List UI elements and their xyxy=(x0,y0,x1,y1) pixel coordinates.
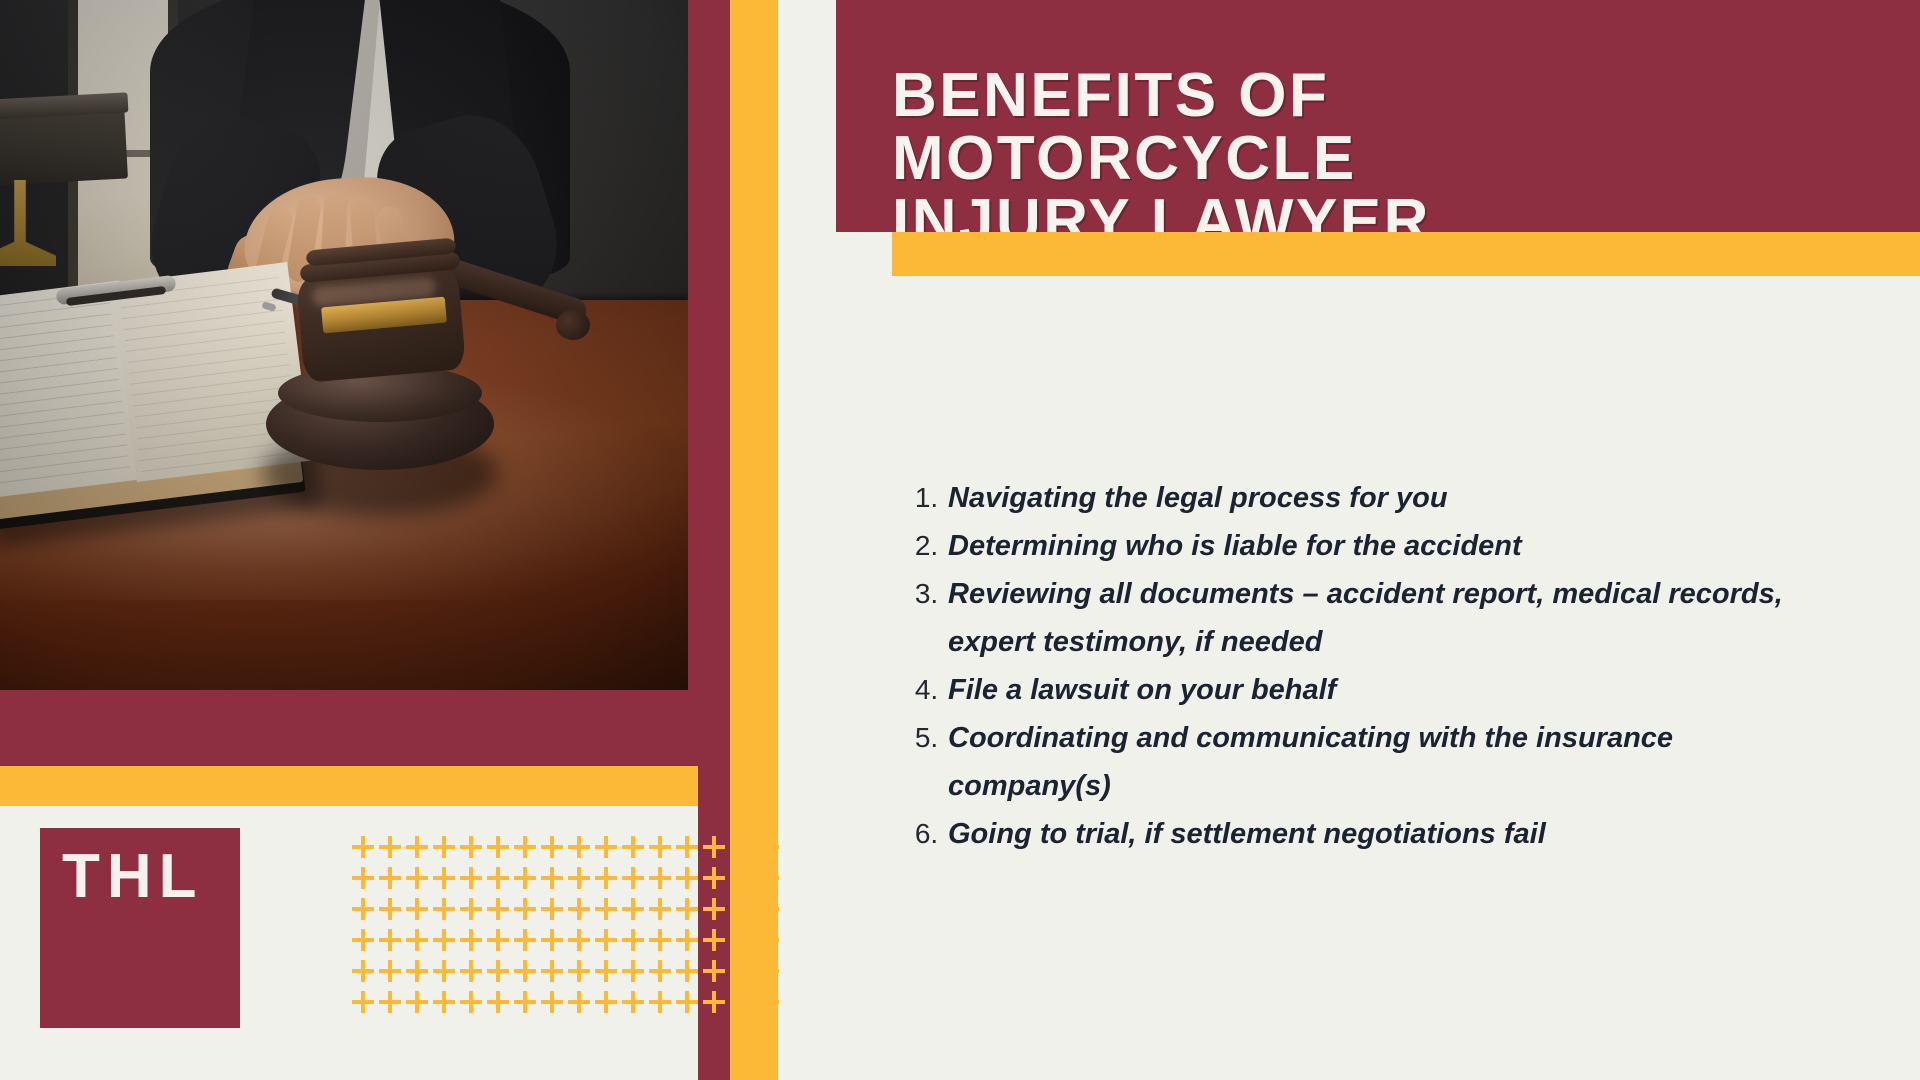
plus-icon xyxy=(649,898,671,920)
plus-icon xyxy=(487,960,509,982)
plus-icon xyxy=(676,867,698,889)
plus-icon xyxy=(379,867,401,889)
plus-icon xyxy=(406,929,428,951)
list-item: Navigating the legal process for you xyxy=(946,474,1810,522)
plus-icon xyxy=(541,960,563,982)
plus-icon xyxy=(676,836,698,858)
header-accent-bar xyxy=(892,232,1920,276)
plus-icon xyxy=(703,867,725,889)
list-item: Determining who is liable for the accide… xyxy=(946,522,1810,570)
plus-icon xyxy=(703,836,725,858)
list-item: File a lawsuit on your behalf xyxy=(946,666,1810,714)
plus-icon xyxy=(757,867,779,889)
plus-icon xyxy=(703,929,725,951)
plus-icon xyxy=(568,991,590,1013)
plus-icon xyxy=(460,929,482,951)
plus-icon xyxy=(487,898,509,920)
plus-icon xyxy=(433,929,455,951)
plus-icon xyxy=(379,898,401,920)
plus-icon xyxy=(757,960,779,982)
plus-icon xyxy=(703,991,725,1013)
plus-icon xyxy=(676,960,698,982)
plus-icon xyxy=(514,836,536,858)
plus-icon xyxy=(406,898,428,920)
page-title-line-2: MOTORCYCLE xyxy=(892,127,1902,190)
plus-icon xyxy=(703,898,725,920)
plus-icon xyxy=(406,836,428,858)
plus-icon xyxy=(352,898,374,920)
plus-icon xyxy=(568,836,590,858)
infographic-canvas: BENEFITS OF MOTORCYCLE INJURY LAWYER Nav… xyxy=(0,0,1920,1080)
list-item: Reviewing all documents – accident repor… xyxy=(946,570,1810,666)
plus-icon xyxy=(460,960,482,982)
plus-icon xyxy=(514,991,536,1013)
plus-icon xyxy=(757,929,779,951)
plus-icon xyxy=(622,991,644,1013)
plus-icon xyxy=(406,867,428,889)
plus-icon xyxy=(433,991,455,1013)
plus-icon xyxy=(703,960,725,982)
plus-icon xyxy=(379,836,401,858)
plus-icon xyxy=(649,991,671,1013)
plus-icon xyxy=(622,836,644,858)
thl-logo-text: THL xyxy=(62,846,232,908)
plus-icon xyxy=(595,898,617,920)
plus-icon xyxy=(730,991,752,1013)
benefits-list: Navigating the legal process for you Det… xyxy=(890,474,1810,858)
photo-color-grade-overlay xyxy=(0,0,688,690)
plus-icon xyxy=(541,991,563,1013)
plus-icon xyxy=(433,867,455,889)
plus-icon xyxy=(379,991,401,1013)
plus-icon xyxy=(568,960,590,982)
plus-icon xyxy=(352,867,374,889)
plus-icon xyxy=(460,898,482,920)
plus-icon xyxy=(541,898,563,920)
plus-icon xyxy=(676,929,698,951)
plus-icon xyxy=(676,991,698,1013)
plus-icon xyxy=(514,898,536,920)
plus-icon xyxy=(460,991,482,1013)
plus-icon xyxy=(595,960,617,982)
plus-icon xyxy=(487,991,509,1013)
benefits-list-container: Navigating the legal process for you Det… xyxy=(890,474,1810,858)
plus-icon xyxy=(757,898,779,920)
plus-icon xyxy=(541,929,563,951)
plus-icon xyxy=(649,960,671,982)
plus-icon xyxy=(730,867,752,889)
page-title: BENEFITS OF MOTORCYCLE INJURY LAWYER xyxy=(892,64,1902,254)
plus-icon xyxy=(622,898,644,920)
plus-icon xyxy=(460,867,482,889)
plus-icon xyxy=(622,867,644,889)
plus-icon xyxy=(406,991,428,1013)
plus-icon xyxy=(595,991,617,1013)
lawyer-desk-photo xyxy=(0,0,688,690)
list-item: Coordinating and communicating with the … xyxy=(946,714,1810,810)
plus-icon xyxy=(649,867,671,889)
plus-icon xyxy=(352,836,374,858)
plus-icon xyxy=(622,960,644,982)
plus-icon xyxy=(568,867,590,889)
plus-icon xyxy=(730,929,752,951)
plus-icon xyxy=(757,991,779,1013)
plus-icon xyxy=(487,836,509,858)
plus-icon xyxy=(730,960,752,982)
plus-icon xyxy=(730,898,752,920)
plus-icon xyxy=(433,898,455,920)
plus-icon xyxy=(514,960,536,982)
plus-icon xyxy=(379,929,401,951)
plus-icon xyxy=(676,898,698,920)
photo-content xyxy=(0,0,688,690)
list-item: Going to trial, if settlement negotiatio… xyxy=(946,810,1810,858)
plus-icon xyxy=(487,929,509,951)
plus-icon xyxy=(433,836,455,858)
plus-icon xyxy=(595,867,617,889)
plus-icon xyxy=(352,960,374,982)
plus-icon xyxy=(595,836,617,858)
plus-icon xyxy=(730,836,752,858)
plus-icon xyxy=(649,929,671,951)
plus-icon xyxy=(595,929,617,951)
plus-icon xyxy=(406,960,428,982)
plus-icon xyxy=(541,867,563,889)
plus-icon xyxy=(568,898,590,920)
plus-icon xyxy=(487,867,509,889)
plus-icon xyxy=(352,991,374,1013)
plus-icon xyxy=(352,929,374,951)
plus-icon xyxy=(649,836,671,858)
plus-icon xyxy=(568,929,590,951)
plus-icon xyxy=(514,867,536,889)
plus-icon xyxy=(622,929,644,951)
plus-icon xyxy=(460,836,482,858)
plus-icon xyxy=(514,929,536,951)
page-title-line-1: BENEFITS OF xyxy=(892,64,1902,127)
plus-icon xyxy=(541,836,563,858)
plus-icon xyxy=(433,960,455,982)
plus-pattern-grid xyxy=(352,836,802,1036)
plus-icon xyxy=(757,836,779,858)
plus-icon xyxy=(379,960,401,982)
